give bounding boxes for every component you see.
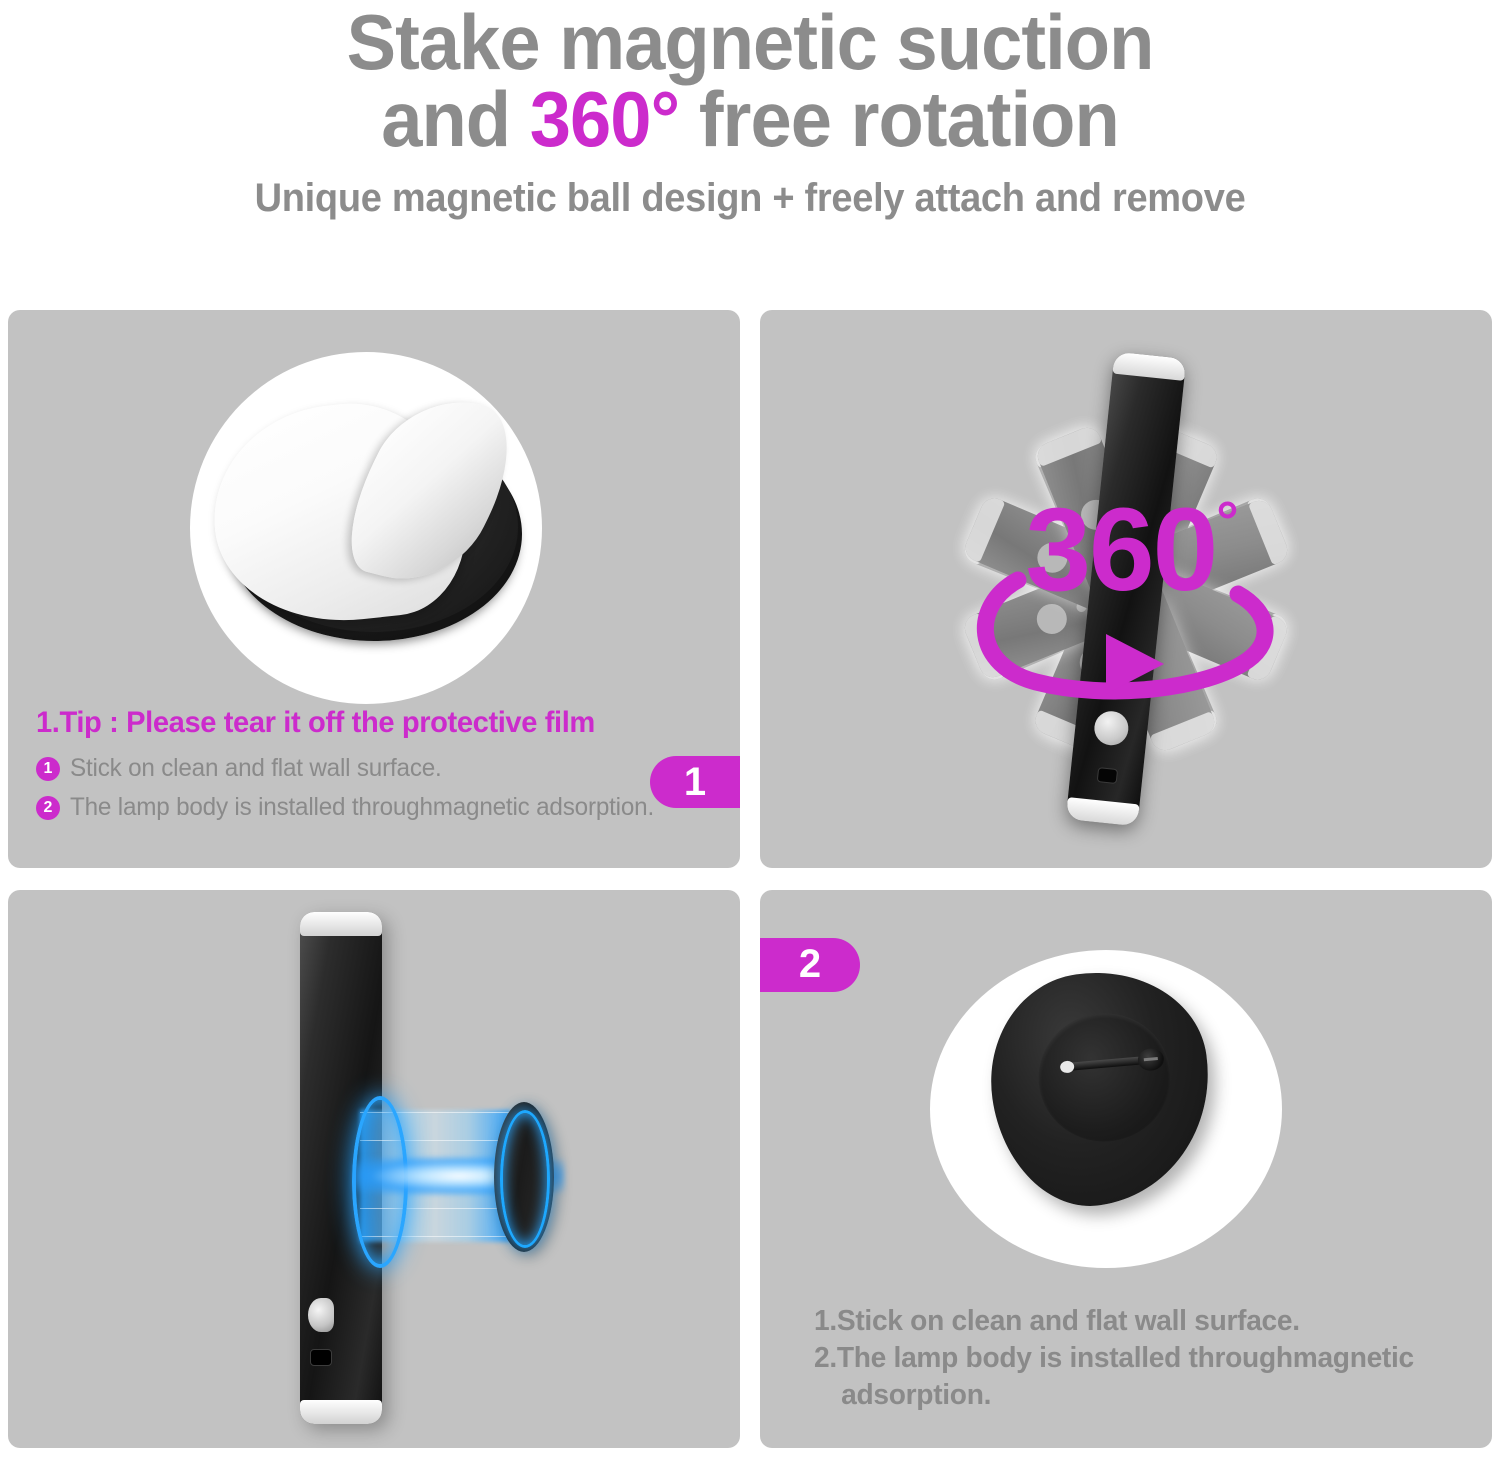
headline-line-2-prefix: and — [381, 75, 530, 163]
bullet-text: The lamp body is installed throughmagnet… — [70, 793, 654, 822]
mount-instruction-line-2: 2.The lamp body is installed throughmagn… — [814, 1340, 1435, 1377]
screw-tip — [1060, 1060, 1075, 1073]
magnetic-mount-disc — [494, 1102, 554, 1252]
rotation-degree-label: 360° — [971, 491, 1291, 609]
step-badge-2: 2 — [760, 938, 860, 992]
screw-shaft — [1070, 1057, 1140, 1071]
indicator-dot-icon — [1109, 689, 1120, 700]
bullet-number-icon: 1 — [36, 757, 60, 781]
lamp-cap-top — [1150, 711, 1219, 754]
rotation-fan-stage: 360° — [760, 310, 1492, 868]
screw-head — [1137, 1048, 1165, 1072]
headline-line-2-suffix: free rotation — [679, 75, 1119, 163]
tip-heading: 1.Tip : Please tear it off the protectiv… — [36, 706, 705, 740]
mount-instructions: 1.Stick on clean and flat wall surface. … — [814, 1303, 1435, 1414]
degree-symbol-icon: ° — [1216, 489, 1236, 552]
panel-360-rotation: 360° — [760, 310, 1492, 868]
page-title: Stake magnetic suction and 360° free rot… — [38, 4, 1463, 158]
lamp-cap-top — [1112, 352, 1186, 381]
adhesive-pad-photo — [214, 405, 534, 655]
mount-instruction-line-3: adsorption. — [814, 1377, 1435, 1414]
feature-panel-grid: 1.Tip : Please tear it off the protectiv… — [8, 310, 1492, 1452]
page-subtitle: Unique magnetic ball design + freely att… — [38, 176, 1463, 221]
lamp-cap-top — [1247, 615, 1291, 684]
headline-accent-360: 360° — [530, 75, 679, 163]
list-item: 1 Stick on clean and flat wall surface. — [36, 754, 726, 783]
panel-magnetic-attachment — [8, 890, 740, 1448]
charging-port-icon — [1097, 767, 1118, 784]
lamp-cap-bottom — [961, 613, 1004, 682]
bullet-number-icon: 2 — [36, 796, 60, 820]
charging-port-icon — [310, 1349, 332, 1366]
list-item: 2 The lamp body is installed throughmagn… — [36, 793, 726, 822]
step-badge-1: 1 — [650, 756, 740, 808]
motion-sensor-icon — [1093, 710, 1130, 747]
headline-line-1: Stake magnetic suction — [38, 4, 1463, 81]
lamp-cap-bottom — [1034, 424, 1103, 467]
header: Stake magnetic suction and 360° free rot… — [0, 0, 1500, 221]
lamp-cap-bottom — [300, 1400, 382, 1424]
headline-line-2: and 360° free rotation — [38, 81, 1463, 158]
lamp-cap-bottom — [1066, 797, 1140, 826]
bullet-text: Stick on clean and flat wall surface. — [70, 754, 442, 783]
mount-instruction-line-1: 1.Stick on clean and flat wall surface. — [814, 1303, 1435, 1340]
adhesive-instructions: 1.Tip : Please tear it off the protectiv… — [36, 706, 726, 832]
rotation-value: 360 — [1025, 484, 1216, 616]
mount-plate-recess — [1030, 1005, 1179, 1150]
panel-wall-mount-plate: 2 1.Stick on clean and flat wall surface… — [760, 890, 1492, 1448]
panel-adhesive-pad: 1.Tip : Please tear it off the protectiv… — [8, 310, 740, 868]
lamp-cap-top — [300, 912, 382, 936]
motion-sensor-icon — [308, 1298, 334, 1332]
